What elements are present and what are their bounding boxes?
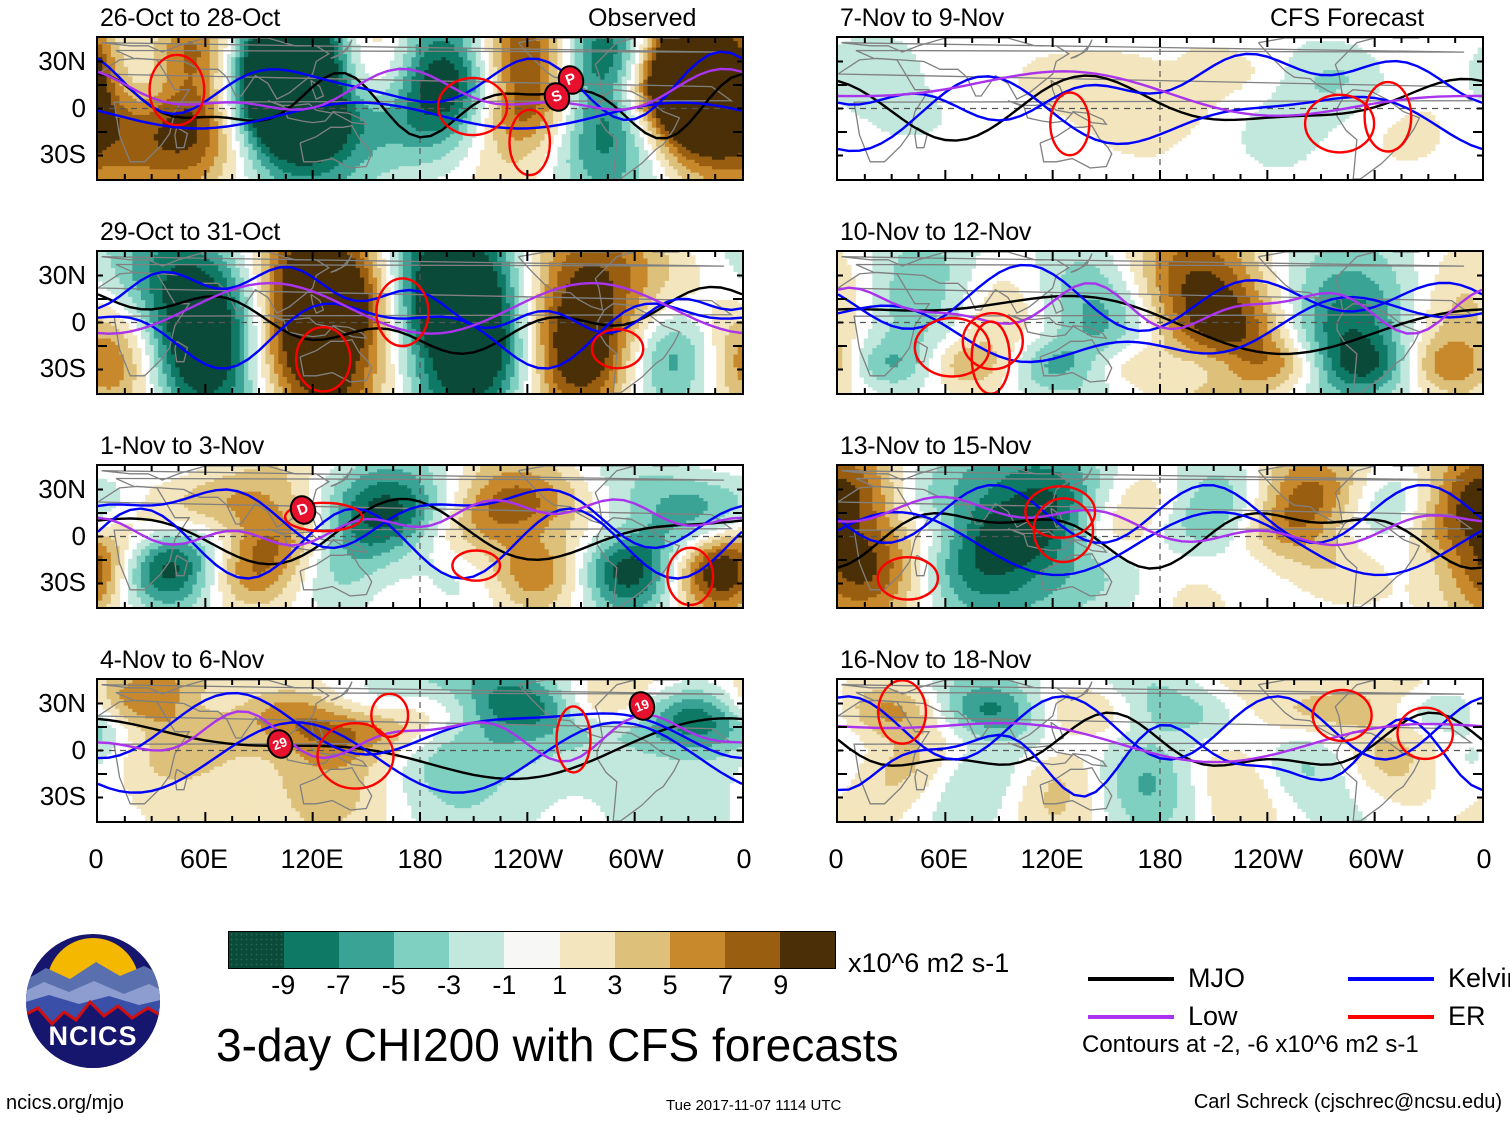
colorbar-tick-label: -5 <box>364 972 424 999</box>
colorbar-swatch <box>449 932 504 968</box>
y-tick-label: 30S <box>0 141 86 167</box>
timestamp: Tue 2017-11-07 1114 UTC <box>666 1098 841 1113</box>
ncics-logo: NCICS <box>24 932 162 1070</box>
legend-label-mjo: MJO <box>1188 965 1245 992</box>
colorbar <box>228 931 836 969</box>
map-panel-obs-3: D <box>96 464 744 609</box>
panel-title-obs-2: 29-Oct to 31-Oct <box>100 220 280 245</box>
map-panel-obs-1: PS <box>96 36 744 181</box>
column-header-forecast: CFS Forecast <box>1270 6 1424 31</box>
x-tick-label: 0 <box>791 846 881 873</box>
x-tick-label: 180 <box>375 846 465 873</box>
y-tick-label: 0 <box>0 523 86 549</box>
map-panel-fcst-4 <box>836 678 1484 823</box>
colorbar-swatch <box>339 932 394 968</box>
legend-swatch-low <box>1088 1015 1174 1019</box>
x-tick-label: 60W <box>1331 846 1421 873</box>
panel-title-fcst-4: 16-Nov to 18-Nov <box>840 648 1031 673</box>
y-tick-label: 30S <box>0 569 86 595</box>
y-tick-label: 0 <box>0 309 86 335</box>
y-tick-label: 30N <box>0 48 86 74</box>
x-tick-label: 180 <box>1115 846 1205 873</box>
panel-title-obs-3: 1-Nov to 3-Nov <box>100 434 264 459</box>
colorbar-swatch <box>780 932 835 968</box>
x-tick-label: 120E <box>267 846 357 873</box>
colorbar-swatch <box>725 932 780 968</box>
y-tick-label: 0 <box>0 95 86 121</box>
map-panel-obs-2 <box>96 250 744 395</box>
x-tick-label: 0 <box>51 846 141 873</box>
map-panel-fcst-2 <box>836 250 1484 395</box>
panel-title-obs-1: 26-Oct to 28-Oct <box>100 6 280 31</box>
x-tick-label: 60E <box>899 846 989 873</box>
site-url[interactable]: ncics.org/mjo <box>6 1093 124 1113</box>
panel-title-fcst-1: 7-Nov to 9-Nov <box>840 6 1004 31</box>
x-tick-label: 0 <box>699 846 789 873</box>
legend-swatch-mjo <box>1088 977 1174 981</box>
colorbar-tick-label: -3 <box>419 972 479 999</box>
x-tick-label: 120E <box>1007 846 1097 873</box>
colorbar-swatch <box>560 932 615 968</box>
colorbar-swatch <box>504 932 559 968</box>
map-panel-obs-4: 2919 <box>96 678 744 823</box>
y-tick-label: 30S <box>0 355 86 381</box>
column-header-observed: Observed <box>588 6 696 31</box>
colorbar-swatch <box>670 932 725 968</box>
contour-note: Contours at -2, -6 x10^6 m2 s-1 <box>1082 1033 1419 1057</box>
legend-label-kelvin-x2: Kelvin x2 <box>1448 965 1510 992</box>
y-tick-label: 30N <box>0 690 86 716</box>
ncics-logo-icon: NCICS <box>24 932 162 1070</box>
legend-swatch-er <box>1348 1015 1434 1019</box>
colorbar-tick-label: 9 <box>751 972 811 999</box>
panel-title-fcst-3: 13-Nov to 15-Nov <box>840 434 1031 459</box>
legend-label-low: Low <box>1188 1003 1238 1030</box>
x-tick-label: 60W <box>591 846 681 873</box>
map-panel-fcst-1 <box>836 36 1484 181</box>
map-panel-fcst-3 <box>836 464 1484 609</box>
panel-title-obs-4: 4-Nov to 6-Nov <box>100 648 264 673</box>
colorbar-tick-label: 3 <box>585 972 645 999</box>
legend-swatch-kelvin-x2 <box>1348 977 1434 981</box>
colorbar-tick-label: -1 <box>474 972 534 999</box>
colorbar-units-label: x10^6 m2 s-1 <box>848 950 1009 977</box>
colorbar-swatch <box>394 932 449 968</box>
colorbar-swatch <box>615 932 670 968</box>
legend-label-er: ER <box>1448 1003 1486 1030</box>
y-tick-label: 0 <box>0 737 86 763</box>
page-title: 3-day CHI200 with CFS forecasts <box>216 1022 899 1068</box>
panel-title-fcst-2: 10-Nov to 12-Nov <box>840 220 1031 245</box>
colorbar-swatch <box>284 932 339 968</box>
x-tick-label: 0 <box>1439 846 1510 873</box>
colorbar-tick-label: -7 <box>309 972 369 999</box>
colorbar-swatch <box>229 932 284 968</box>
colorbar-tick-label: 1 <box>530 972 590 999</box>
x-tick-label: 120W <box>1223 846 1313 873</box>
x-tick-label: 120W <box>483 846 573 873</box>
colorbar-tick-label: 5 <box>640 972 700 999</box>
y-tick-label: 30S <box>0 783 86 809</box>
y-tick-label: 30N <box>0 476 86 502</box>
y-tick-label: 30N <box>0 262 86 288</box>
author-credit: Carl Schreck (cjschrec@ncsu.edu) <box>1194 1092 1502 1112</box>
colorbar-tick-label: 7 <box>695 972 755 999</box>
colorbar-tick-label: -9 <box>253 972 313 999</box>
x-tick-label: 60E <box>159 846 249 873</box>
